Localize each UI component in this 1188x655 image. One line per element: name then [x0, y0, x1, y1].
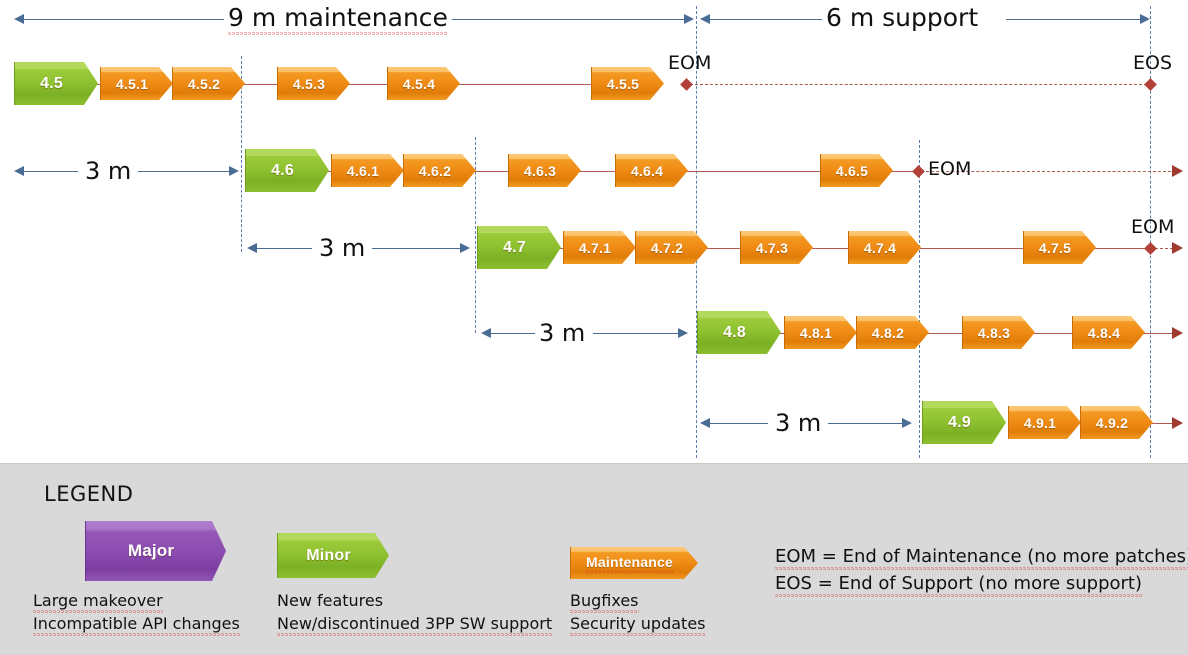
release-label: 4.8.4 [1088, 325, 1120, 341]
release-label: 4.9 [948, 414, 971, 432]
gap-line-right-4-7 [372, 248, 462, 249]
row-4-5-line-dashed [690, 84, 1152, 85]
release-chevron-4-5-3[interactable]: 4.5.3 [277, 67, 350, 100]
gap-label-4-7: 3 m [319, 234, 365, 262]
release-chevron-4-7-2[interactable]: 4.7.2 [635, 231, 708, 264]
release-chevron-4-5-1[interactable]: 4.5.1 [100, 67, 173, 100]
row-4-7-line-dashed [1155, 248, 1173, 249]
eom-marker-4-7 [1144, 242, 1157, 255]
legend-desc-line: Security updates [570, 614, 706, 636]
release-chevron-4-9-1[interactable]: 4.9.1 [1008, 406, 1081, 439]
release-chevron-4-8-4[interactable]: 4.8.4 [1072, 316, 1145, 349]
release-label: 4.5.5 [607, 76, 639, 92]
eom-marker-4-6 [912, 165, 925, 178]
guide-line-4 [919, 140, 920, 458]
release-label: 4.8.2 [872, 325, 904, 341]
gap-line-left-4-7 [257, 248, 312, 249]
definition-eom: EOM = End of Maintenance (no more patche… [775, 546, 1188, 570]
legend-label-minor: Minor [306, 547, 351, 565]
release-label: 4.6.3 [524, 163, 556, 179]
support-line-right [1006, 19, 1140, 20]
gap-arrow-right-4-8 [678, 328, 688, 338]
legend-desc-minor: New features New/discontinued 3PP SW sup… [277, 590, 552, 636]
maintenance-line-left [24, 19, 224, 20]
maintenance-arrow-left [14, 14, 24, 24]
legend-label-major: Major [128, 541, 174, 561]
release-label: 4.9.2 [1096, 415, 1128, 431]
gap-arrow-right-4-7 [460, 243, 470, 253]
release-label: 4.5 [40, 75, 63, 93]
legend-desc-line: Bugfixes [570, 591, 639, 613]
gap-arrow-left-4-8 [481, 328, 491, 338]
gap-label-4-9: 3 m [775, 409, 821, 437]
maintenance-line-right [452, 19, 684, 20]
guide-line-2 [475, 137, 476, 333]
support-line-left [710, 19, 822, 20]
release-label: 4.5.2 [188, 76, 220, 92]
gap-arrow-right-4-9 [902, 418, 912, 428]
release-chevron-4-6-2[interactable]: 4.6.2 [403, 154, 476, 187]
legend-desc-line: Large makeover [33, 591, 163, 613]
definition-eos: EOS = End of Support (no more support) [775, 573, 1142, 597]
timeline-diagram: 9 m maintenance 6 m support 4.5 4.5.1 4.… [0, 0, 1188, 654]
release-label: 4.5.3 [293, 76, 325, 92]
eom-label-4-5: EOM [668, 52, 711, 74]
release-chevron-4-9-2[interactable]: 4.9.2 [1080, 406, 1153, 439]
legend-definitions: EOM = End of Maintenance (no more patche… [775, 543, 1188, 597]
release-label: 4.7.3 [756, 240, 788, 256]
legend-label-maintenance: Maintenance [586, 554, 673, 573]
release-label: 4.5.4 [403, 76, 435, 92]
gap-arrow-left-4-7 [247, 243, 257, 253]
release-chevron-4-8-3[interactable]: 4.8.3 [962, 316, 1035, 349]
gap-arrow-left-4-6 [14, 166, 24, 176]
release-label: 4.9.1 [1024, 415, 1056, 431]
gap-line-left-4-6 [24, 171, 78, 172]
release-chevron-4-5-2[interactable]: 4.5.2 [172, 67, 245, 100]
row-4-6-arrowhead [1172, 165, 1183, 177]
release-chevron-4-9[interactable]: 4.9 [922, 401, 1006, 444]
release-label: 4.8.1 [800, 325, 832, 341]
release-label: 4.7.1 [579, 240, 611, 256]
maintenance-arrow-right [684, 14, 694, 24]
eos-label-4-5: EOS [1133, 52, 1172, 74]
release-label: 4.6.2 [419, 163, 451, 179]
release-label: 4.5.1 [116, 76, 148, 92]
release-chevron-4-8-2[interactable]: 4.8.2 [856, 316, 929, 349]
release-chevron-4-5-4[interactable]: 4.5.4 [387, 67, 460, 100]
row-4-8-arrowhead [1172, 327, 1183, 339]
release-chevron-4-7[interactable]: 4.7 [477, 226, 561, 269]
gap-line-right-4-6 [138, 171, 231, 172]
row-4-9-arrowhead [1172, 417, 1183, 429]
legend-desc-line: New features [277, 591, 383, 610]
support-period-label: 6 m support [826, 3, 978, 32]
release-label: 4.7 [503, 239, 526, 257]
release-chevron-4-8[interactable]: 4.8 [697, 311, 781, 354]
release-chevron-4-7-5[interactable]: 4.7.5 [1023, 231, 1096, 264]
gap-label-4-6: 3 m [85, 157, 131, 185]
release-chevron-4-6-4[interactable]: 4.6.4 [615, 154, 688, 187]
release-chevron-4-6-1[interactable]: 4.6.1 [331, 154, 404, 187]
legend-desc-line: New/discontinued 3PP SW support [277, 614, 552, 636]
legend-chevron-major: Major [85, 521, 226, 581]
eom-label-4-7: EOM [1131, 216, 1174, 238]
legend-desc-maintenance: Bugfixes Security updates [570, 590, 706, 636]
gap-line-right-4-9 [828, 423, 904, 424]
release-label: 4.6.5 [836, 163, 868, 179]
legend-desc-major: Large makeover Incompatible API changes [33, 590, 240, 636]
eom-marker-4-5 [680, 78, 693, 91]
row-4-7-arrowhead [1172, 242, 1183, 254]
release-label: 4.6.1 [347, 163, 379, 179]
release-chevron-4-5[interactable]: 4.5 [14, 62, 98, 105]
release-chevron-4-7-3[interactable]: 4.7.3 [740, 231, 813, 264]
release-chevron-4-6-3[interactable]: 4.6.3 [508, 154, 581, 187]
release-label: 4.8 [723, 324, 746, 342]
legend-chevron-minor: Minor [277, 533, 389, 578]
release-chevron-4-8-1[interactable]: 4.8.1 [784, 316, 857, 349]
release-label: 4.7.5 [1039, 240, 1071, 256]
release-chevron-4-6-5[interactable]: 4.6.5 [820, 154, 893, 187]
release-label: 4.8.3 [978, 325, 1010, 341]
gap-arrow-left-4-9 [700, 418, 710, 428]
release-label: 4.7.4 [864, 240, 896, 256]
gap-line-left-4-8 [491, 333, 535, 334]
legend-chevron-maintenance: Maintenance [570, 547, 698, 579]
legend-desc-line: Incompatible API changes [33, 614, 240, 636]
support-arrow-left [700, 14, 710, 24]
release-chevron-4-7-4[interactable]: 4.7.4 [848, 231, 921, 264]
gap-line-right-4-8 [593, 333, 680, 334]
release-chevron-4-6[interactable]: 4.6 [245, 149, 329, 192]
maintenance-period-label: 9 m maintenance [228, 3, 448, 32]
gap-label-4-8: 3 m [539, 319, 585, 347]
legend-title: LEGEND [44, 482, 133, 506]
release-chevron-4-7-1[interactable]: 4.7.1 [563, 231, 636, 264]
release-chevron-4-5-5[interactable]: 4.5.5 [591, 67, 664, 100]
release-label: 4.6 [271, 162, 294, 180]
gap-line-left-4-9 [710, 423, 768, 424]
support-arrow-right [1140, 14, 1150, 24]
eom-label-4-6: EOM [928, 158, 971, 180]
release-label: 4.6.4 [631, 163, 663, 179]
eos-marker-4-5 [1144, 78, 1157, 91]
gap-arrow-right-4-6 [229, 166, 239, 176]
release-label: 4.7.2 [651, 240, 683, 256]
